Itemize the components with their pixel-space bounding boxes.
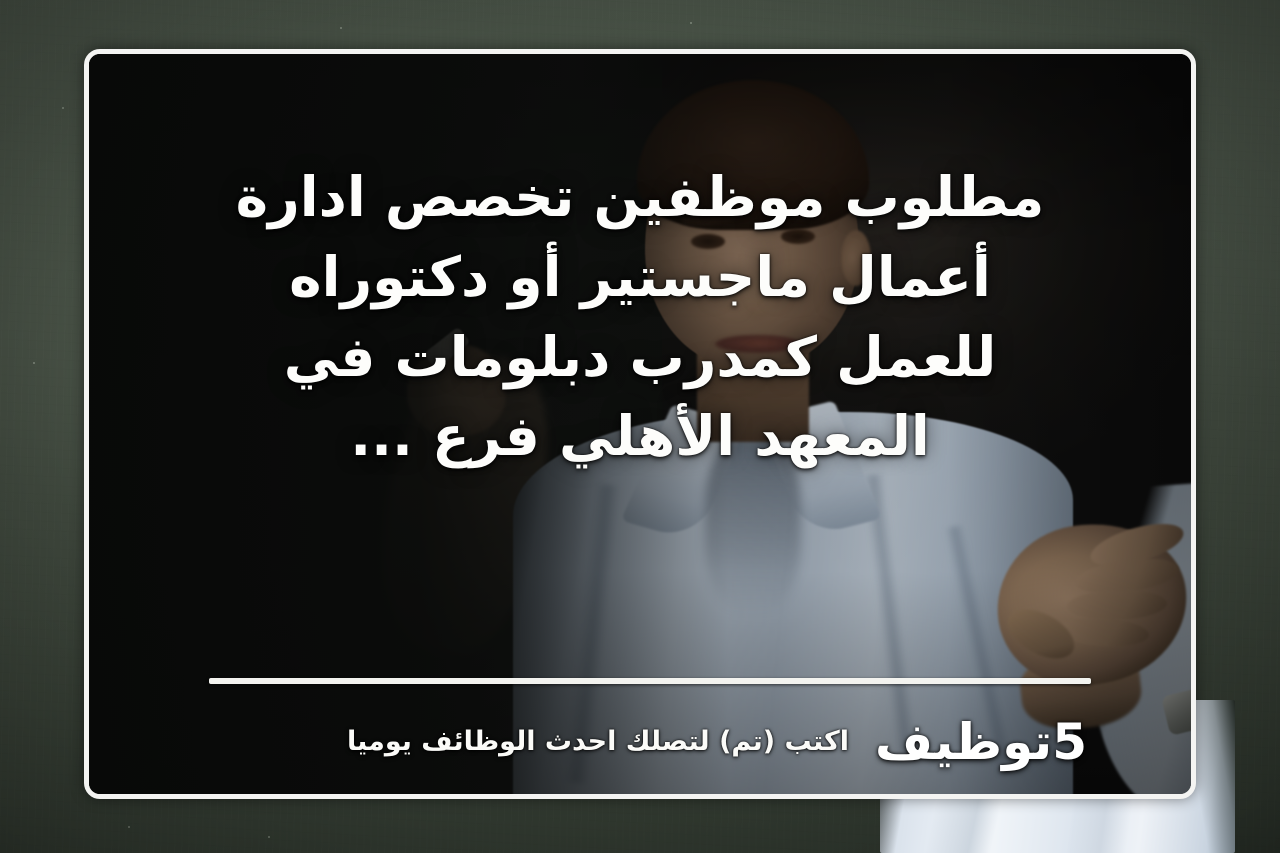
subject-ear	[841, 230, 871, 286]
subject-eye-left	[691, 234, 725, 249]
photo-frame: مطلوب موظفين تخصص ادارة أعمال ماجستير أو…	[84, 49, 1196, 799]
subject-eye-right	[781, 229, 815, 244]
subject-nose	[737, 250, 777, 320]
subject-mouth	[715, 335, 801, 353]
subject-photo	[89, 54, 1191, 794]
job-poster: مطلوب موظفين تخصص ادارة أعمال ماجستير أو…	[0, 0, 1280, 853]
shirt-chest-shadow	[705, 434, 801, 614]
subject-hair	[637, 80, 869, 230]
